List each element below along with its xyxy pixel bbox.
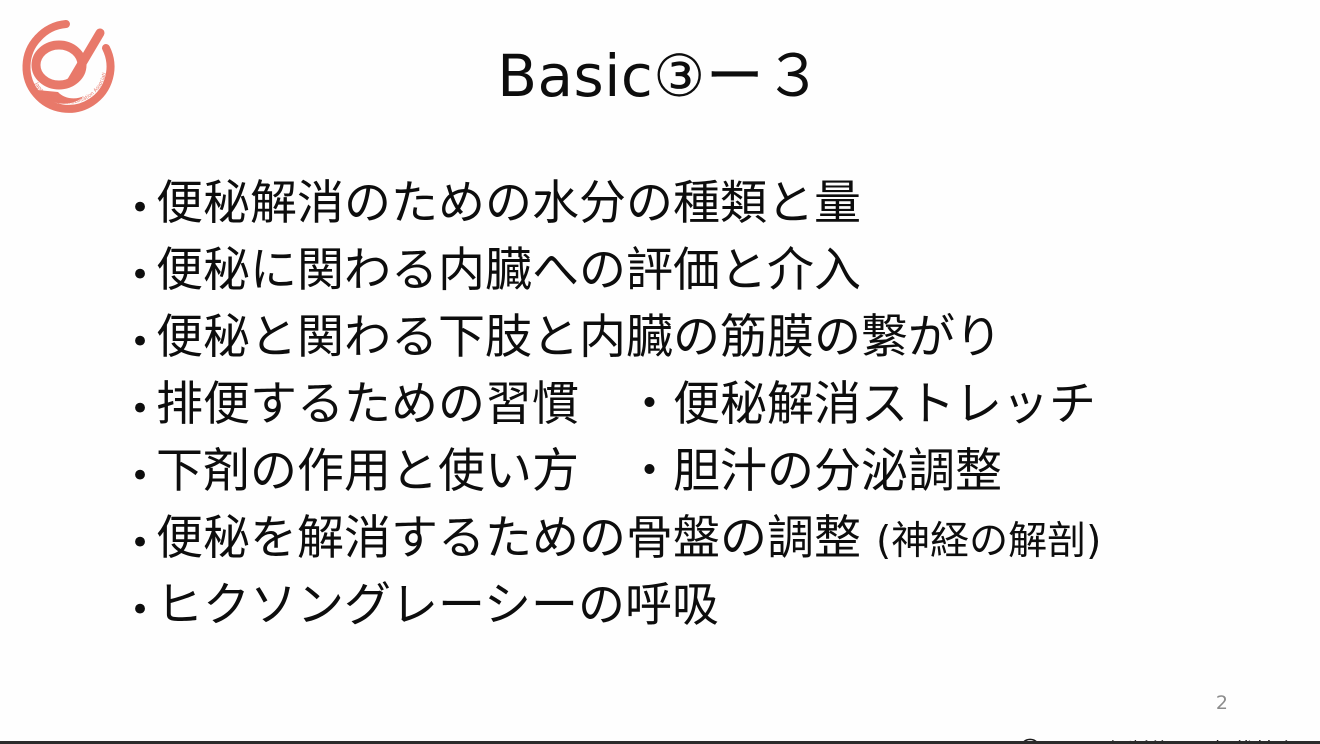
list-item: • 便秘に関わる内臓への評価と介入 bbox=[130, 237, 1260, 304]
bullet-icon: • bbox=[130, 309, 156, 376]
list-item-label: ヒクソングレーシーの呼吸 bbox=[156, 572, 719, 639]
list-item: • 便秘を解消するための骨盤の調整 (神経の解剖) bbox=[130, 505, 1260, 572]
list-item: • 下剤の作用と使い方 ・胆汁の分泌調整 bbox=[130, 438, 1260, 505]
bullet-icon: • bbox=[130, 510, 156, 577]
list-item-label: 便秘と関わる下肢と内臓の筋膜の繋がり bbox=[156, 304, 1002, 371]
bullet-icon: • bbox=[130, 443, 156, 510]
list-item-label: 便秘に関わる内臓への評価と介入 bbox=[156, 237, 861, 304]
list-item-label: 便秘を解消するための骨盤の調整 bbox=[156, 505, 876, 572]
presentation-slide: Japan Allergy Rehabilitation Association… bbox=[0, 0, 1320, 744]
list-item: • 便秘と関わる下肢と内臓の筋膜の繋がり bbox=[130, 304, 1260, 371]
list-item-label: 下剤の作用と使い方 ・胆汁の分泌調整 bbox=[156, 438, 1002, 505]
bullet-icon: • bbox=[130, 376, 156, 443]
list-item: • ヒクソングレーシーの呼吸 bbox=[130, 572, 1260, 639]
page-title: Basic③ー３ bbox=[0, 46, 1320, 107]
list-item: • 排便するための習慣 ・便秘解消ストレッチ bbox=[130, 371, 1260, 438]
list-item-label: 便秘解消のための水分の種類と量 bbox=[156, 170, 861, 237]
copyright-notice: ⓒJARA 無断使用・転載禁止 bbox=[991, 708, 1296, 744]
list-item-label: 排便するための習慣 ・便秘解消ストレッチ bbox=[156, 371, 1096, 438]
list-item: • 便秘解消のための水分の種類と量 bbox=[130, 170, 1260, 237]
list-item-note: (神経の解剖) bbox=[876, 508, 1101, 575]
bullet-icon: • bbox=[130, 242, 156, 309]
bullet-icon: • bbox=[130, 175, 156, 242]
bullet-list: • 便秘解消のための水分の種類と量 • 便秘に関わる内臓への評価と介入 • 便秘… bbox=[130, 170, 1260, 639]
bullet-icon: • bbox=[130, 577, 156, 644]
